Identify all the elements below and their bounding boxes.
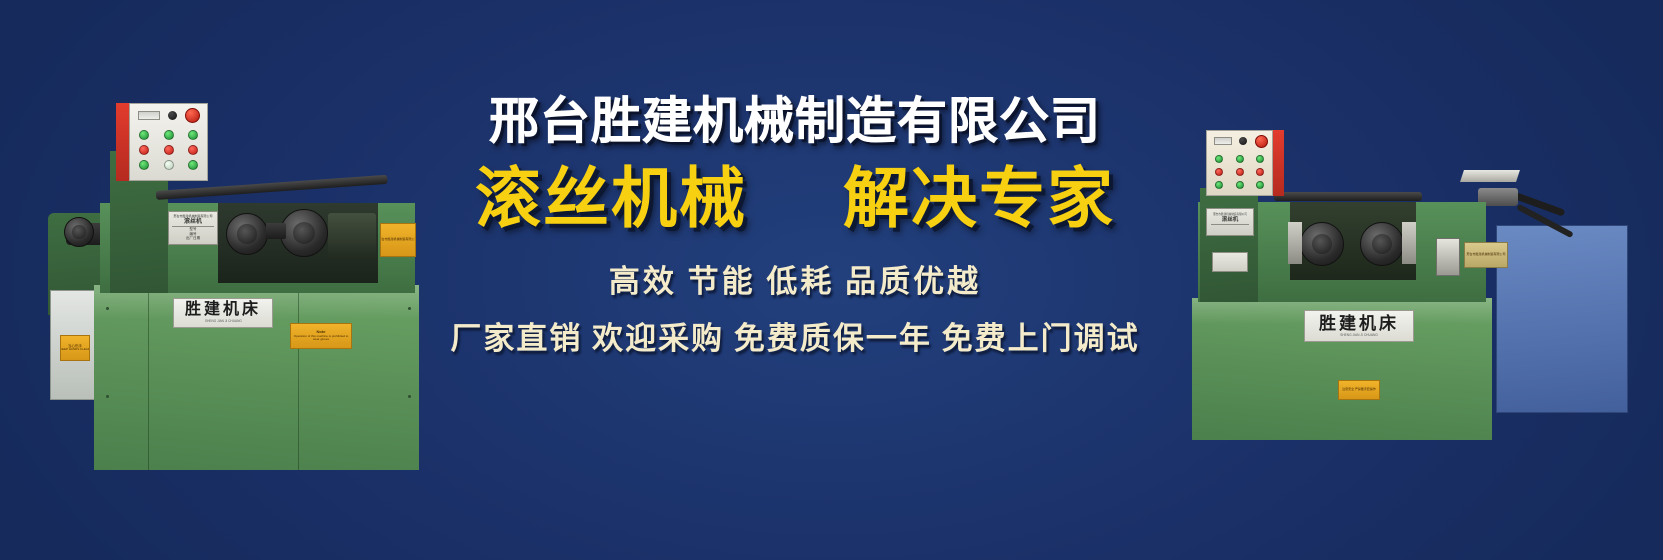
work-rest-bracket	[1436, 238, 1460, 276]
right-nameplate-pinyin: SHENG JIAN JI CHUANG	[1340, 334, 1378, 337]
panel-button-green-4[interactable]	[139, 160, 149, 170]
tagline-secondary: 厂家直销 欢迎采购 免费质保一年 免费上门调试	[400, 313, 1190, 358]
right-emergency-stop-button[interactable]	[1255, 135, 1268, 148]
panel-face[interactable]	[129, 103, 208, 181]
panel-red-side	[116, 103, 129, 181]
note-text: Operation of this machine is prohibited …	[293, 335, 349, 342]
headline-row: 滚丝机械 解决专家	[400, 162, 1190, 235]
panel-button-row-1[interactable]	[130, 130, 207, 140]
right-panel-display	[1214, 137, 1232, 145]
hand-warning-label: 当心伤手 KEEP HANDS CLEAR	[60, 335, 90, 361]
right-spec-row	[1230, 226, 1231, 229]
left-shaft-flange	[64, 217, 94, 247]
machine-left-nameplate: 胜建机床 SHENG JIAN JI CHUANG	[173, 298, 273, 328]
right-spec-model: 滚丝机	[1222, 218, 1239, 224]
nameplate-pinyin: SHENG JIAN JI CHUANG	[205, 320, 242, 323]
spec-model: 滚丝机	[184, 219, 202, 225]
nameplate-chinese: 胜建机床	[185, 302, 261, 318]
right-panel-button-row-3[interactable]	[1207, 181, 1272, 189]
promotional-banner: 当心伤手 KEEP HANDS CLEAR 邢台市胜建机械制造有限公司 滚丝机 …	[0, 0, 1663, 560]
spec-row-3: 出厂日期	[186, 237, 200, 241]
machine-left-control-panel[interactable]	[116, 103, 208, 181]
right-panel-button-row-2[interactable]	[1207, 168, 1272, 176]
panel-button-row-2[interactable]	[130, 145, 207, 155]
panel-button-red-3[interactable]	[188, 145, 198, 155]
roller-head-2	[280, 209, 328, 257]
brass-plate-text: 邢台市胜建机械制造有限公司	[1467, 253, 1506, 256]
right-button-green-5[interactable]	[1236, 181, 1244, 189]
panel-button-white-1[interactable]	[164, 160, 174, 170]
right-button-green-4[interactable]	[1215, 181, 1223, 189]
machine-right-control-panel[interactable]	[1206, 130, 1284, 196]
panel-button-green-5[interactable]	[188, 160, 198, 170]
right-button-green-1[interactable]	[1215, 155, 1223, 163]
right-panel-face[interactable]	[1206, 130, 1273, 196]
machine-right-nameplate: 胜建机床 SHENG JIAN JI CHUANG	[1304, 310, 1414, 342]
right-panel-button-row-1[interactable]	[1207, 155, 1272, 163]
right-roller-head-1	[1300, 222, 1344, 266]
right-roller-head-2	[1360, 222, 1404, 266]
hand-warning-sub: KEEP HANDS CLEAR	[60, 348, 90, 351]
machine-left-spec-plate: 邢台市胜建机械制造有限公司 滚丝机 型号 编号 出厂日期	[168, 211, 218, 245]
company-name: 邢台胜建机械制造有限公司	[400, 95, 1190, 148]
machine-right-warning-label: 注意安全 严禁戴手套操作	[1338, 380, 1380, 400]
right-button-red-2[interactable]	[1236, 168, 1244, 176]
emergency-stop-button[interactable]	[185, 108, 200, 123]
right-brass-plate: 邢台市胜建机械制造有限公司	[1464, 242, 1508, 268]
panel-button-green-1[interactable]	[139, 130, 149, 140]
spec-title: 邢台市胜建机械制造有限公司	[173, 215, 212, 218]
machine-right-column	[1200, 188, 1258, 302]
base-seam	[148, 285, 149, 470]
roller-spacer	[266, 223, 286, 239]
right-panel-red-side	[1273, 130, 1284, 196]
right-top-rail	[1274, 192, 1422, 201]
machine-right: 邢台市胜建机械制造有限公司	[1178, 130, 1648, 440]
banner-text-block: 邢台胜建机械制造有限公司 滚丝机械 解决专家 高效 节能 低耗 品质优越 厂家直…	[400, 95, 1190, 358]
guide-tray	[1460, 170, 1520, 182]
panel-selector-knob[interactable]	[168, 111, 177, 120]
right-button-red-1[interactable]	[1215, 168, 1223, 176]
panel-button-red-1[interactable]	[139, 145, 149, 155]
headline-left: 滚丝机械	[475, 162, 747, 235]
right-warning-text: 注意安全 严禁戴手套操作	[1342, 388, 1376, 391]
roller-head-1	[226, 213, 268, 255]
panel-button-row-3[interactable]	[130, 160, 207, 170]
machine-left: 当心伤手 KEEP HANDS CLEAR 邢台市胜建机械制造有限公司 滚丝机 …	[28, 95, 423, 475]
right-button-green-3[interactable]	[1256, 155, 1264, 163]
right-panel-knob[interactable]	[1239, 137, 1247, 145]
machine-left-note-label: Note Operation of this machine is prohib…	[290, 323, 352, 349]
panel-button-green-3[interactable]	[188, 130, 198, 140]
panel-button-red-2[interactable]	[164, 145, 174, 155]
motor-housing	[328, 213, 376, 259]
tagline-primary: 高效 节能 低耗 品质优越	[400, 256, 1190, 301]
machine-right-spec-plate: 邢台市胜建机械制造有限公司 滚丝机	[1206, 208, 1254, 236]
right-button-red-3[interactable]	[1256, 168, 1264, 176]
right-roller-slide-2	[1402, 222, 1416, 264]
hydraulic-tank	[1496, 225, 1628, 413]
right-nameplate-chinese: 胜建机床	[1319, 315, 1399, 332]
panel-display	[138, 111, 160, 120]
right-button-green-2[interactable]	[1236, 155, 1244, 163]
machine-right-aux-plate	[1212, 252, 1248, 272]
panel-button-green-2[interactable]	[164, 130, 174, 140]
right-button-green-6[interactable]	[1256, 181, 1264, 189]
right-roller-slide-1	[1288, 222, 1302, 264]
base-seam-2	[298, 285, 299, 470]
headline-right: 解决专家	[843, 162, 1115, 235]
